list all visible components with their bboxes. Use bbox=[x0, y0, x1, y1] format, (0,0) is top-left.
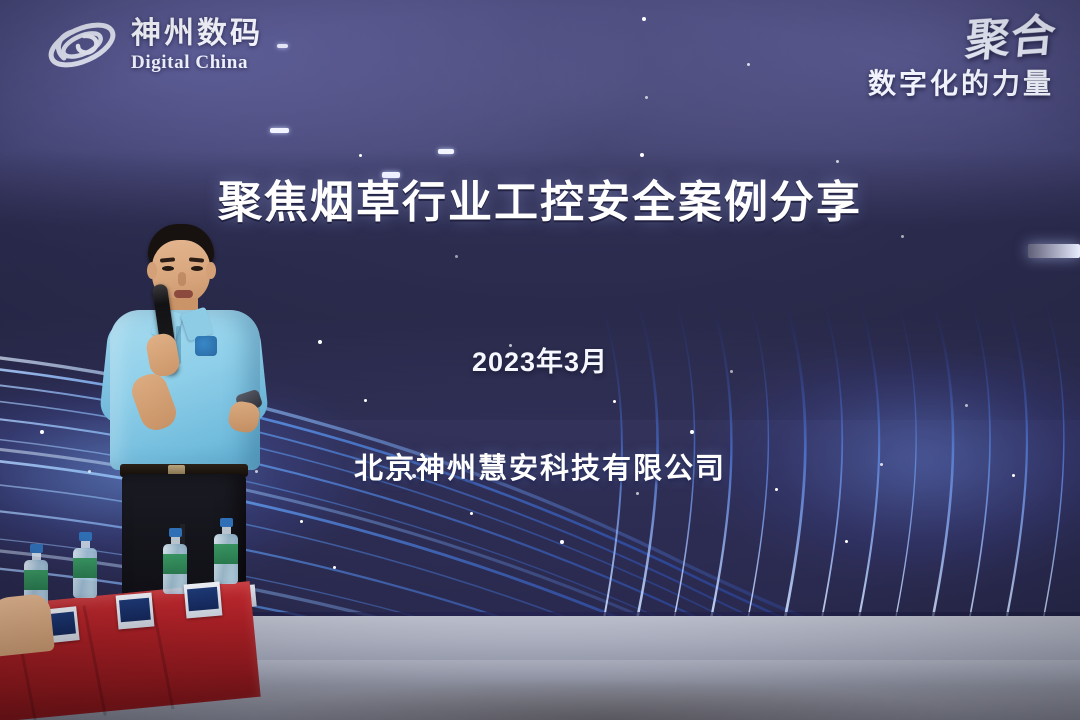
conference-stage-photo: 聚焦烟草行业工控安全案例分享 2023年3月 北京神州慧安科技有限公司 神州数码… bbox=[0, 0, 1080, 720]
stage-floor-shadow bbox=[194, 664, 1015, 720]
bottle-body bbox=[214, 534, 238, 584]
name-card-band bbox=[119, 598, 151, 623]
screen-edge-light-strip bbox=[1028, 244, 1080, 258]
bottle-neck bbox=[81, 541, 90, 548]
event-logo: 聚合 数字化的力量 bbox=[868, 18, 1056, 102]
stream-glow-right bbox=[648, 360, 1080, 610]
bottle-neck bbox=[32, 553, 41, 560]
bottle-label bbox=[73, 558, 97, 578]
speaker-chest-logo-icon bbox=[195, 336, 217, 356]
bottle-cap bbox=[79, 532, 92, 541]
list-item bbox=[73, 532, 97, 598]
list-item bbox=[184, 581, 223, 618]
bottle-neck bbox=[171, 537, 180, 544]
name-card-band bbox=[187, 587, 219, 612]
list-item bbox=[214, 518, 238, 584]
list-item bbox=[116, 592, 155, 629]
bottle-label bbox=[214, 544, 238, 564]
bottle-cap bbox=[30, 544, 43, 553]
bottle-label bbox=[163, 554, 187, 574]
digital-china-text: 神州数码 Digital China bbox=[131, 19, 263, 72]
swirl-spiral-icon bbox=[44, 16, 120, 74]
speaker-nose bbox=[178, 272, 186, 286]
speaker-person bbox=[96, 224, 281, 624]
bottle-cap bbox=[169, 528, 182, 537]
speaker-ear-right bbox=[206, 262, 216, 279]
event-tagline: 数字化的力量 bbox=[868, 62, 1054, 102]
speaker-eye-left bbox=[162, 266, 174, 271]
bottle-label bbox=[24, 570, 48, 590]
speaker-ear-left bbox=[147, 262, 157, 279]
event-brush-text: 聚合 bbox=[964, 15, 1058, 63]
digital-china-logo: 神州数码 Digital China bbox=[44, 16, 263, 74]
bottle-cap bbox=[220, 518, 233, 527]
brand-name-en: Digital China bbox=[131, 53, 263, 72]
audience-member bbox=[0, 593, 55, 657]
bottle-body bbox=[73, 548, 97, 598]
speaker-eye-right bbox=[191, 266, 203, 271]
slide-title: 聚焦烟草行业工控安全案例分享 bbox=[0, 181, 1080, 225]
speaker-mouth bbox=[174, 290, 193, 298]
bottle-neck bbox=[222, 527, 231, 534]
brand-name-cn: 神州数码 bbox=[131, 19, 263, 49]
